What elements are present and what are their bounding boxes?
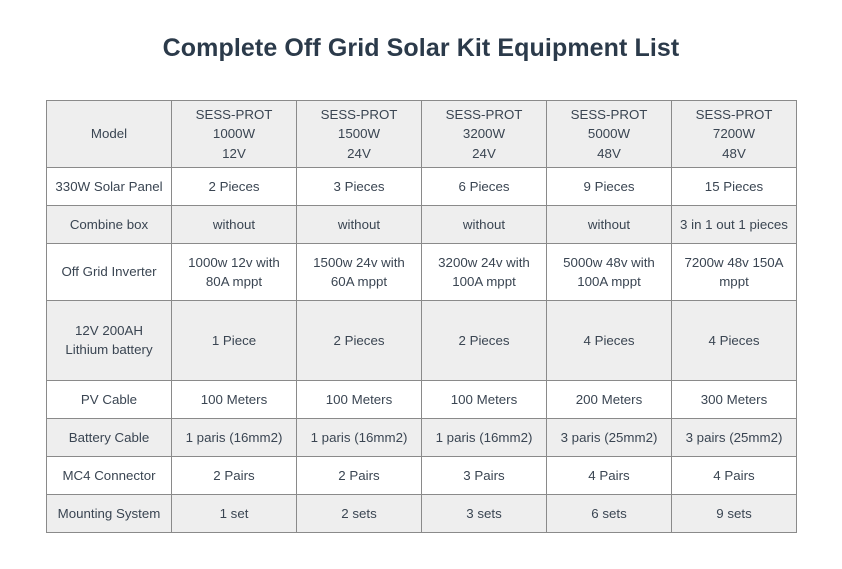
row-value-cell: 1 paris (16mm2) [297,418,422,456]
row-value-cell: 2 Pieces [297,300,422,380]
cell-text-line: 3 in 1 out 1 pieces [677,215,791,234]
cell-text-line: 1500w 24v with [302,253,416,272]
cell-text: 6 Pieces [427,177,541,196]
cell-text-line: 1 paris (16mm2) [177,428,291,447]
cell-text-line: 1 paris (16mm2) [427,428,541,447]
header-column-voltage: 12V [177,144,291,163]
cell-text: 1500w 24v with60A mppt [302,253,416,292]
cell-text-line: 3 sets [427,504,541,523]
equipment-table: ModelSESS-PROT 1000W12VSESS-PROT 1500W24… [46,100,797,533]
cell-text-line: 3 pairs (25mm2) [677,428,791,447]
cell-text: 3 pairs (25mm2) [677,428,791,447]
row-value-cell: 300 Meters [672,380,797,418]
cell-text: 1 paris (16mm2) [177,428,291,447]
row-label-cell: MC4 Connector [47,456,172,494]
cell-text-line: mppt [677,272,791,291]
table-row: MC4 Connector2 Pairs2 Pairs3 Pairs4 Pair… [47,456,797,494]
header-column-model: SESS-PROT 7200W [677,105,791,144]
table-row: PV Cable100 Meters100 Meters100 Meters20… [47,380,797,418]
cell-text-line: Combine box [52,215,166,234]
row-value-cell: 9 sets [672,494,797,532]
row-label-cell: Mounting System [47,494,172,532]
cell-text: 3200w 24v with100A mppt [427,253,541,292]
cell-text: 100 Meters [427,390,541,409]
header-column-cell: SESS-PROT 7200W48V [672,101,797,168]
cell-text-line: Battery Cable [52,428,166,447]
row-value-cell: 5000w 48v with100A mppt [547,243,672,300]
table-row: Off Grid Inverter1000w 12v with80A mppt1… [47,243,797,300]
document-page: Complete Off Grid Solar Kit Equipment Li… [0,0,842,569]
cell-text: Mounting System [52,504,166,523]
row-value-cell: 4 Pieces [547,300,672,380]
header-column-model: SESS-PROT 5000W [552,105,666,144]
cell-text: 9 Pieces [552,177,666,196]
cell-text-line: 2 Pieces [177,177,291,196]
header-column-cell: SESS-PROT 5000W48V [547,101,672,168]
cell-text: without [302,215,416,234]
row-label-cell: 12V 200AHLithium battery [47,300,172,380]
cell-text-line: 2 Pieces [302,331,416,350]
cell-text-line: 4 Pairs [552,466,666,485]
header-column-model: SESS-PROT 1500W [302,105,416,144]
row-value-cell: 100 Meters [172,380,297,418]
row-value-cell: 4 Pieces [672,300,797,380]
cell-text: 300 Meters [677,390,791,409]
row-value-cell: 1500w 24v with60A mppt [297,243,422,300]
row-value-cell: 3 Pairs [422,456,547,494]
cell-text: without [427,215,541,234]
row-value-cell: 4 Pairs [672,456,797,494]
header-column-text: SESS-PROT 1500W24V [302,105,416,163]
cell-text: 4 Pieces [677,331,791,350]
cell-text-line: 6 Pieces [427,177,541,196]
cell-text-line: 12V 200AH [52,321,166,340]
cell-text-line: 100A mppt [427,272,541,291]
cell-text-line: 3 Pairs [427,466,541,485]
header-column-model: SESS-PROT 3200W [427,105,541,144]
cell-text-line: 3 Pieces [302,177,416,196]
cell-text: 3 Pieces [302,177,416,196]
cell-text: 330W Solar Panel [52,177,166,196]
row-value-cell: 9 Pieces [547,167,672,205]
cell-text: 2 Pieces [177,177,291,196]
cell-text-line: PV Cable [52,390,166,409]
cell-text-line: Off Grid Inverter [52,262,166,281]
row-label-cell: 330W Solar Panel [47,167,172,205]
cell-text: Battery Cable [52,428,166,447]
row-label-cell: Off Grid Inverter [47,243,172,300]
cell-text: 4 Pairs [677,466,791,485]
cell-text-line: 15 Pieces [677,177,791,196]
cell-text: 3 in 1 out 1 pieces [677,215,791,234]
row-value-cell: 3 in 1 out 1 pieces [672,205,797,243]
cell-text-line: 4 Pieces [677,331,791,350]
header-column-voltage: 48V [677,144,791,163]
cell-text: 200 Meters [552,390,666,409]
cell-text: 2 Pieces [302,331,416,350]
cell-text: 3 Pairs [427,466,541,485]
header-column-text: SESS-PROT 5000W48V [552,105,666,163]
header-column-text: SESS-PROT 3200W24V [427,105,541,163]
header-column-voltage: 48V [552,144,666,163]
cell-text-line: without [552,215,666,234]
cell-text: 12V 200AHLithium battery [52,321,166,360]
row-value-cell: without [297,205,422,243]
cell-text-line: 2 sets [302,504,416,523]
cell-text-line: 1 Piece [177,331,291,350]
row-value-cell: 2 Pairs [297,456,422,494]
header-column-model: SESS-PROT 1000W [177,105,291,144]
header-column-cell: SESS-PROT 3200W24V [422,101,547,168]
table-row: Mounting System1 set2 sets3 sets6 sets9 … [47,494,797,532]
row-value-cell: 1 set [172,494,297,532]
cell-text-line: MC4 Connector [52,466,166,485]
row-value-cell: 3 paris (25mm2) [547,418,672,456]
cell-text-line: 9 Pieces [552,177,666,196]
header-column-text: SESS-PROT 7200W48V [677,105,791,163]
cell-text: 4 Pairs [552,466,666,485]
cell-text-line: 4 Pairs [677,466,791,485]
cell-text: 1 set [177,504,291,523]
cell-text: 1 Piece [177,331,291,350]
cell-text-line: 3 paris (25mm2) [552,428,666,447]
cell-text: 1 paris (16mm2) [427,428,541,447]
row-value-cell: 15 Pieces [672,167,797,205]
header-label-cell: Model [47,101,172,168]
cell-text-line: 1000w 12v with [177,253,291,272]
cell-text: 2 sets [302,504,416,523]
cell-text-line: without [302,215,416,234]
table-row: 12V 200AHLithium battery1 Piece2 Pieces2… [47,300,797,380]
cell-text-line: 100A mppt [552,272,666,291]
cell-text-line: 2 Pairs [177,466,291,485]
cell-text-line: 3200w 24v with [427,253,541,272]
header-column-text: SESS-PROT 1000W12V [177,105,291,163]
header-column-cell: SESS-PROT 1000W12V [172,101,297,168]
row-value-cell: 3 Pieces [297,167,422,205]
table-header-row: ModelSESS-PROT 1000W12VSESS-PROT 1500W24… [47,101,797,168]
row-value-cell: 2 Pieces [422,300,547,380]
cell-text-line: 300 Meters [677,390,791,409]
cell-text-line: 200 Meters [552,390,666,409]
cell-text: 3 paris (25mm2) [552,428,666,447]
cell-text: 7200w 48v 150Amppt [677,253,791,292]
cell-text-line: Lithium battery [52,340,166,359]
cell-text-line: 1 paris (16mm2) [302,428,416,447]
row-value-cell: without [172,205,297,243]
cell-text: 5000w 48v with100A mppt [552,253,666,292]
row-value-cell: 3 sets [422,494,547,532]
cell-text-line: 9 sets [677,504,791,523]
row-value-cell: without [547,205,672,243]
cell-text: 100 Meters [177,390,291,409]
cell-text: 100 Meters [302,390,416,409]
row-value-cell: 2 sets [297,494,422,532]
row-value-cell: 7200w 48v 150Amppt [672,243,797,300]
row-value-cell: without [422,205,547,243]
cell-text-line: 2 Pairs [302,466,416,485]
cell-text-line: 100 Meters [177,390,291,409]
cell-text: 1 paris (16mm2) [302,428,416,447]
cell-text: without [552,215,666,234]
row-label-cell: Combine box [47,205,172,243]
row-value-cell: 3 pairs (25mm2) [672,418,797,456]
cell-text-line: 80A mppt [177,272,291,291]
row-value-cell: 6 Pieces [422,167,547,205]
row-value-cell: 1 paris (16mm2) [422,418,547,456]
row-value-cell: 100 Meters [297,380,422,418]
cell-text-line: Mounting System [52,504,166,523]
row-value-cell: 4 Pairs [547,456,672,494]
cell-text-line: 100 Meters [302,390,416,409]
cell-text: 2 Pieces [427,331,541,350]
cell-text: 2 Pairs [302,466,416,485]
row-value-cell: 1 paris (16mm2) [172,418,297,456]
row-value-cell: 3200w 24v with100A mppt [422,243,547,300]
table-row: 330W Solar Panel2 Pieces3 Pieces6 Pieces… [47,167,797,205]
cell-text-line: 60A mppt [302,272,416,291]
cell-text: 1000w 12v with80A mppt [177,253,291,292]
cell-text: 4 Pieces [552,331,666,350]
cell-text: 2 Pairs [177,466,291,485]
cell-text: 15 Pieces [677,177,791,196]
row-label-cell: PV Cable [47,380,172,418]
cell-text: PV Cable [52,390,166,409]
cell-text: Off Grid Inverter [52,262,166,281]
row-value-cell: 100 Meters [422,380,547,418]
table-body: ModelSESS-PROT 1000W12VSESS-PROT 1500W24… [47,101,797,533]
cell-text: without [177,215,291,234]
cell-text-line: 5000w 48v with [552,253,666,272]
row-label-cell: Battery Cable [47,418,172,456]
cell-text: MC4 Connector [52,466,166,485]
cell-text-line: 2 Pieces [427,331,541,350]
cell-text: 6 sets [552,504,666,523]
row-value-cell: 200 Meters [547,380,672,418]
cell-text-line: 4 Pieces [552,331,666,350]
cell-text: 9 sets [677,504,791,523]
cell-text-line: without [177,215,291,234]
row-value-cell: 2 Pairs [172,456,297,494]
cell-text-line: 7200w 48v 150A [677,253,791,272]
header-column-voltage: 24V [302,144,416,163]
cell-text-line: 100 Meters [427,390,541,409]
cell-text-line: without [427,215,541,234]
row-value-cell: 1000w 12v with80A mppt [172,243,297,300]
cell-text-line: 330W Solar Panel [52,177,166,196]
row-value-cell: 6 sets [547,494,672,532]
cell-text: 3 sets [427,504,541,523]
row-value-cell: 2 Pieces [172,167,297,205]
equipment-table-container: ModelSESS-PROT 1000W12VSESS-PROT 1500W24… [46,100,796,533]
cell-text-line: 6 sets [552,504,666,523]
page-title: Complete Off Grid Solar Kit Equipment Li… [0,34,842,63]
row-value-cell: 1 Piece [172,300,297,380]
cell-text: Combine box [52,215,166,234]
table-row: Battery Cable1 paris (16mm2)1 paris (16m… [47,418,797,456]
cell-text-line: 1 set [177,504,291,523]
table-row: Combine boxwithoutwithoutwithoutwithout3… [47,205,797,243]
header-column-cell: SESS-PROT 1500W24V [297,101,422,168]
header-column-voltage: 24V [427,144,541,163]
